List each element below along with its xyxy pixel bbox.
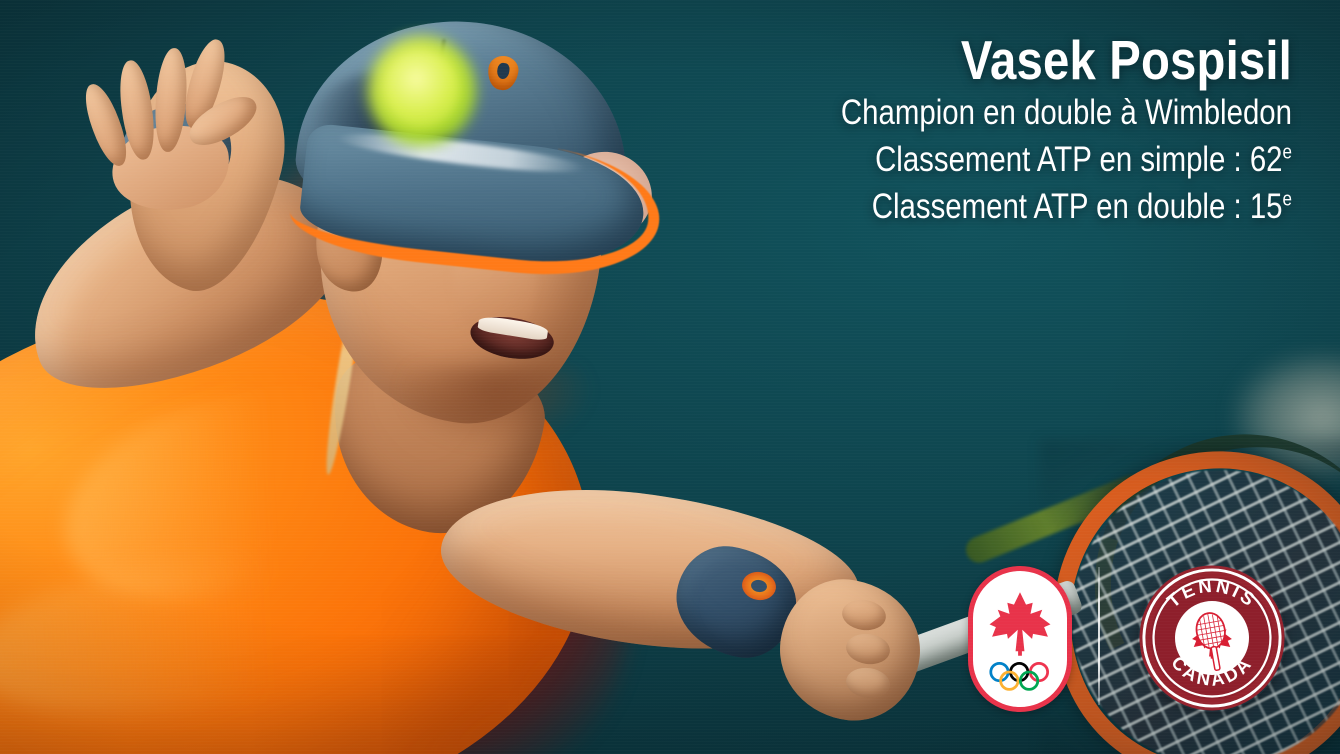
atp-doubles-value: 15 (1250, 187, 1283, 226)
athlete-profile-card: Vasek Pospisil Champion en double à Wimb… (0, 0, 1340, 754)
atp-singles-label: Classement ATP en simple : (875, 140, 1250, 179)
athlete-info: Vasek Pospisil Champion en double à Wimb… (755, 32, 1292, 230)
logo-row: TENNIS CANADA (960, 560, 1290, 720)
atp-singles-value: 62 (1250, 140, 1283, 179)
athlete-name: Vasek Pospisil (830, 32, 1292, 89)
logo-divider (1098, 567, 1100, 705)
left-hand (78, 30, 278, 190)
atp-singles-ranking: Classement ATP en simple : 62e (841, 138, 1292, 183)
atp-singles-ordinal: e (1283, 141, 1292, 163)
maple-leaf-icon (988, 591, 1052, 657)
atp-doubles-ordinal: e (1283, 188, 1292, 210)
olympic-rings-icon (984, 661, 1056, 691)
atp-doubles-ranking: Classement ATP en double : 15e (841, 185, 1292, 230)
tennis-canada-logo: TENNIS CANADA (1138, 564, 1286, 712)
atp-doubles-label: Classement ATP en double : (872, 187, 1250, 226)
canadian-olympic-committee-logo (968, 566, 1072, 712)
chin-shadow (400, 366, 590, 446)
athlete-achievement: Champion en double à Wimbledon (841, 91, 1292, 136)
tennis-ball-core (386, 52, 458, 126)
